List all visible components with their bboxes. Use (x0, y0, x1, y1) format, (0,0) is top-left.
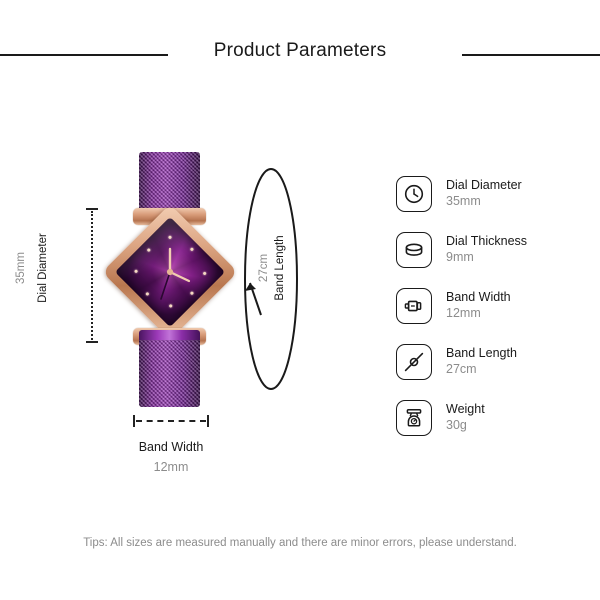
spec-name: Band Length (446, 345, 517, 361)
dial-diameter-value: 35mm (15, 223, 27, 313)
spec-name: Dial Thickness (446, 233, 527, 249)
dimension-dotted-line (91, 211, 93, 340)
band-width-dimension-line (133, 415, 209, 427)
weight-scale-icon (396, 400, 432, 436)
spec-row-band-width: Band Width 12mm (396, 288, 596, 344)
dimension-cap-bottom (86, 341, 98, 343)
spec-text: Dial Diameter 35mm (446, 176, 522, 210)
page-header: Product Parameters (0, 0, 600, 92)
band-width-label: Band Width (101, 440, 241, 454)
watch-case (102, 204, 238, 340)
band-length-label: Band Length (274, 213, 286, 323)
specification-list: Dial Diameter 35mm Dial Thickness 9mm Ba (396, 176, 596, 456)
dimension-cap-left (133, 415, 135, 427)
dimension-cap-top (86, 208, 98, 210)
dial-thickness-icon (396, 232, 432, 268)
spec-text: Band Length 27cm (446, 344, 517, 378)
dimension-dashed-line (136, 420, 206, 422)
dial-diameter-dimension-line (86, 208, 98, 343)
product-watch-image (113, 152, 228, 407)
spec-value: 9mm (446, 249, 527, 266)
band-width-icon (396, 288, 432, 324)
footer-tip-text: Tips: All sizes are measured manually an… (0, 537, 600, 549)
spec-value: 27cm (446, 361, 517, 378)
watch-dial-icon (396, 176, 432, 212)
spec-name: Dial Diameter (446, 177, 522, 193)
dimension-cap-right (207, 415, 209, 427)
spec-name: Band Width (446, 289, 511, 305)
header-rule-right (462, 54, 600, 56)
dial-diameter-label: Dial Diameter (37, 223, 49, 313)
spec-value: 30g (446, 417, 485, 434)
band-length-value: 27cm (258, 213, 270, 323)
spec-row-dial-thickness: Dial Thickness 9mm (396, 232, 596, 288)
spec-name: Weight (446, 401, 485, 417)
dial-hour-markers (170, 217, 225, 272)
band-length-loop-icon (240, 165, 302, 393)
spec-value: 12mm (446, 305, 511, 322)
spec-text: Band Width 12mm (446, 288, 511, 322)
watch-dial (115, 217, 225, 327)
band-width-value: 12mm (101, 460, 241, 474)
spec-row-dial-diameter: Dial Diameter 35mm (396, 176, 596, 232)
spec-text: Dial Thickness 9mm (446, 232, 527, 266)
watch-band-bottom (139, 340, 200, 407)
spec-text: Weight 30g (446, 400, 485, 434)
spec-value: 35mm (446, 193, 522, 210)
watch-band-top (139, 152, 200, 214)
page-title: Product Parameters (0, 40, 600, 62)
spec-row-weight: Weight 30g (396, 400, 596, 456)
watch-hands-icon (131, 233, 209, 311)
band-length-icon (396, 344, 432, 380)
spec-row-band-length: Band Length 27cm (396, 344, 596, 400)
